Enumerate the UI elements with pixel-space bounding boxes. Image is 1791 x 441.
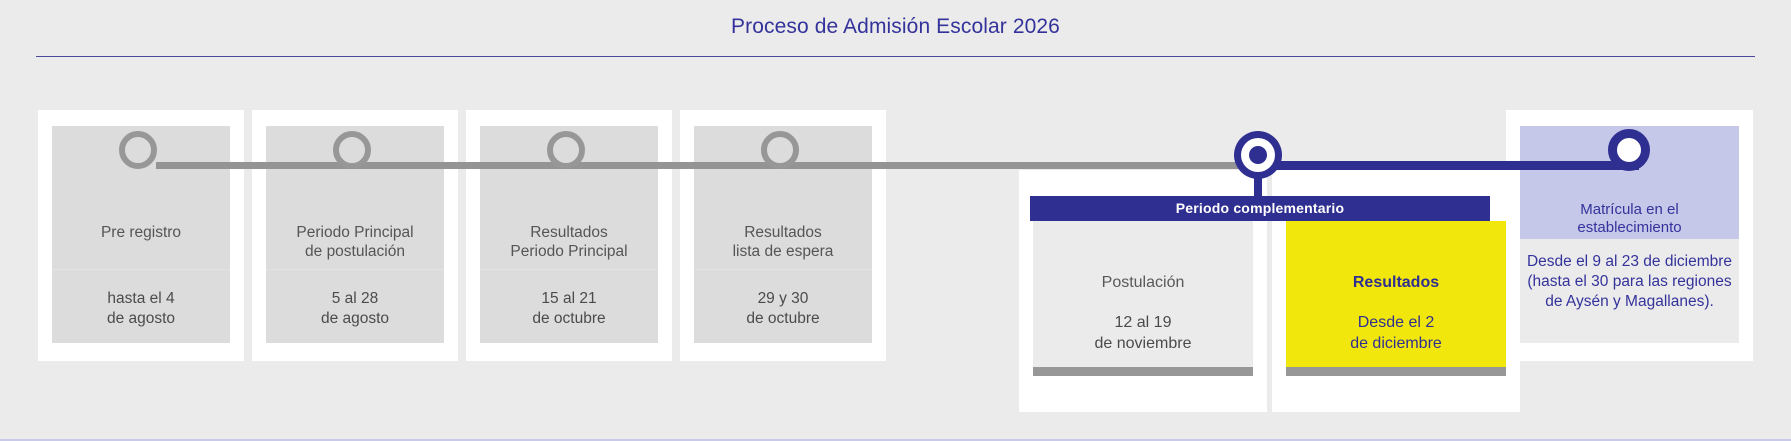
card-bottom-bar xyxy=(1286,367,1506,376)
card-divider xyxy=(52,269,230,270)
card-title-line1: Periodo Principal xyxy=(270,224,440,243)
timeline-node-periodo-principal-icon xyxy=(333,131,371,169)
card-dates: 12 al 19 de noviembre xyxy=(1037,313,1249,355)
card-dates-line1: Desde el 2 xyxy=(1290,313,1502,334)
card-dates-line2: de noviembre xyxy=(1037,334,1249,355)
card-body: Postulación 12 al 19 de noviembre xyxy=(1033,196,1253,386)
card-dates: hasta el 4 de agosto xyxy=(56,289,226,329)
card-divider xyxy=(266,269,444,270)
card-dates-line2: de agosto xyxy=(56,309,226,329)
timeline-rail-active xyxy=(1258,161,1639,170)
card-dates-line2: de agosto xyxy=(270,309,440,329)
card-divider xyxy=(480,269,658,270)
card-title: Postulación xyxy=(1037,273,1249,292)
card-bottom-bar xyxy=(1033,367,1253,376)
card-title-line2: establecimiento xyxy=(1524,219,1735,237)
card-title-line2: de postulación xyxy=(270,243,440,262)
card-body: Resultados Desde el 2 de diciembre xyxy=(1286,196,1506,386)
card-title: Pre registro xyxy=(56,224,226,243)
card-title: Matrícula en el establecimiento xyxy=(1524,201,1735,238)
card-dates-line2: de diciembre xyxy=(1290,334,1502,355)
timeline-node-resultados-periodo-principal-icon xyxy=(547,131,585,169)
timeline-rail-completed xyxy=(156,162,1261,169)
card-divider xyxy=(694,269,872,270)
card-body-panel: Postulación 12 al 19 de noviembre xyxy=(1033,221,1253,376)
card-dates: Desde el 2 de diciembre xyxy=(1290,313,1502,355)
card-dates-line2: de octubre xyxy=(698,309,868,329)
card-title-line1: Matrícula en el xyxy=(1524,201,1735,219)
card-dates-line1: 29 y 30 xyxy=(698,289,868,309)
card-dates-line1: 5 al 28 xyxy=(270,289,440,309)
card-title-line1: Resultados xyxy=(484,224,654,243)
card-dates-line1: 15 al 21 xyxy=(484,289,654,309)
timeline-node-pre-registro-icon xyxy=(119,131,157,169)
card-title: Resultados Periodo Principal xyxy=(484,224,654,262)
card-dates-line1: hasta el 4 xyxy=(56,289,226,309)
card-dates: 5 al 28 de agosto xyxy=(270,289,440,329)
timeline-node-matricula-icon xyxy=(1608,129,1650,171)
card-title: Resultados lista de espera xyxy=(698,224,868,262)
card-title-line2: lista de espera xyxy=(698,243,868,262)
card-body-panel: Resultados Desde el 2 de diciembre xyxy=(1286,221,1506,376)
card-dates: Desde el 9 al 23 de diciembre (hasta el … xyxy=(1526,252,1733,312)
card-title: Resultados xyxy=(1290,273,1502,292)
card-title-line1: Resultados xyxy=(698,224,868,243)
card-title: Periodo Principal de postulación xyxy=(270,224,440,262)
card-dates: 29 y 30 de octubre xyxy=(698,289,868,329)
timeline-node-complementario-icon xyxy=(1234,131,1282,179)
card-title-line2: Periodo Principal xyxy=(484,243,654,262)
timeline-cards: Pre registro hasta el 4 de agosto Period… xyxy=(0,0,1791,441)
timeline-node-resultados-lista-de-espera-icon xyxy=(761,131,799,169)
card-dates: 15 al 21 de octubre xyxy=(484,289,654,329)
card-dates-line1: 12 al 19 xyxy=(1037,313,1249,334)
card-dates-line2: de octubre xyxy=(484,309,654,329)
